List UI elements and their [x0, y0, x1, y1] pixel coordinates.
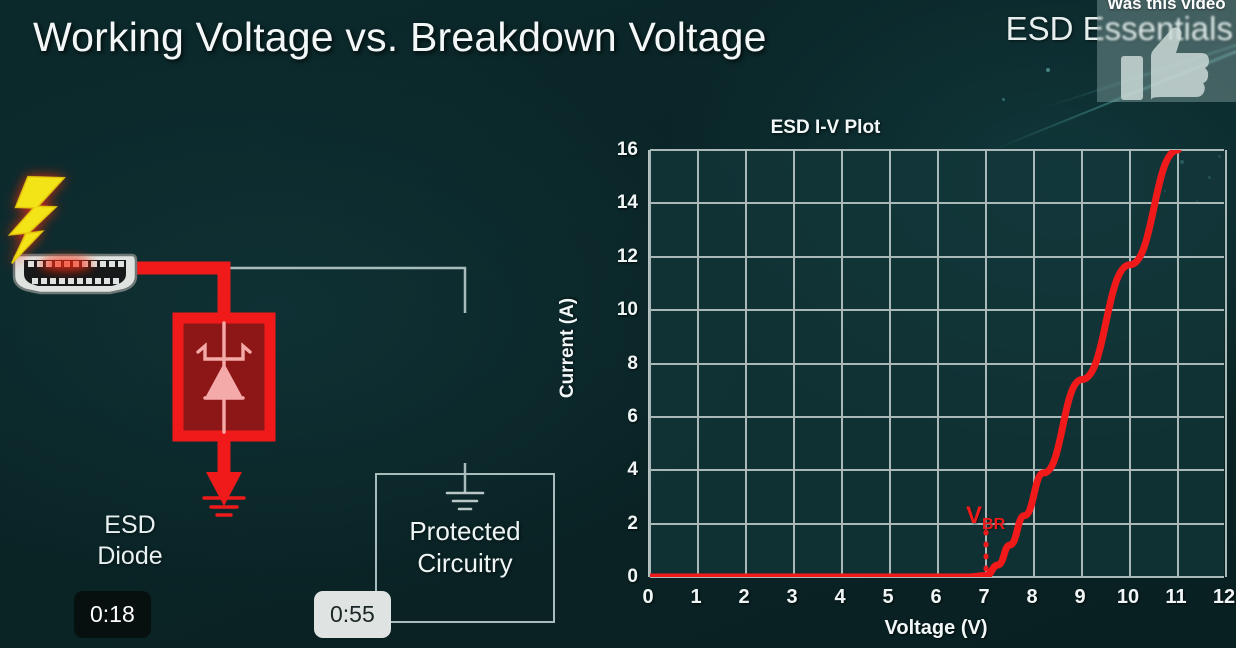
x-tick-label: 0: [630, 586, 666, 609]
esd-diode-label-line1: ESD: [84, 510, 176, 541]
protected-circuitry-box: Protected Circuitry: [375, 473, 555, 623]
y-tick-label: 12: [598, 246, 638, 268]
x-tick-label: 4: [822, 586, 858, 609]
esd-diode-component: [178, 318, 270, 436]
x-tick-label: 3: [774, 586, 810, 609]
y-tick-label: 0: [598, 566, 638, 588]
chart-title: ESD I-V Plot: [580, 117, 1236, 139]
breakdown-voltage-annotation: VBR: [966, 502, 1005, 534]
esd-diode-label: ESD Diode: [84, 510, 176, 571]
y-tick-label: 6: [598, 406, 638, 428]
total-time-label: 0:55: [330, 601, 375, 628]
current-time-badge[interactable]: 0:18: [74, 591, 151, 638]
protected-line2: Circuitry: [417, 548, 512, 578]
page-title: Working Voltage vs. Breakdown Voltage: [33, 14, 767, 61]
esd-diode-label-line2: Diode: [84, 541, 176, 572]
x-tick-label: 11: [1158, 586, 1194, 609]
chart-x-axis-label: Voltage (V): [648, 617, 1224, 640]
x-tick-label: 1: [678, 586, 714, 609]
x-tick-label: 10: [1110, 586, 1146, 609]
vbr-label-subscript: BR: [982, 515, 1005, 532]
plot-area: [648, 150, 1224, 577]
y-tick-label: 2: [598, 513, 638, 535]
x-tick-label: 12: [1206, 586, 1236, 609]
x-tick-label: 7: [966, 586, 1002, 609]
x-tick-label: 9: [1062, 586, 1098, 609]
x-tick-label: 6: [918, 586, 954, 609]
iv-curve: [650, 150, 1178, 577]
y-tick-label: 16: [598, 139, 638, 161]
x-tick-label: 8: [1014, 586, 1050, 609]
y-tick-label: 14: [598, 192, 638, 214]
thumbs-up-icon[interactable]: [1121, 26, 1213, 102]
feedback-overlay[interactable]: Was this video: [1097, 0, 1236, 102]
bokeh-speck: [1046, 68, 1050, 72]
protected-line1: Protected: [409, 516, 520, 546]
y-tick-label: 8: [598, 353, 638, 375]
current-arrow-icon: [206, 472, 242, 506]
protected-circuitry-label: Protected Circuitry: [409, 516, 520, 579]
feedback-prompt: Was this video: [1107, 0, 1225, 14]
chart-y-axis-label: Current (A): [557, 298, 579, 398]
iv-plot: ESD I-V Plot Current (A) Voltage (V) 024…: [580, 105, 1236, 648]
x-tick-label: 2: [726, 586, 762, 609]
y-tick-label: 4: [598, 459, 638, 481]
series-layer: [650, 150, 1226, 577]
y-tick-label: 10: [598, 299, 638, 321]
current-time-label: 0:18: [90, 601, 135, 628]
bokeh-speck: [1002, 98, 1005, 101]
x-tick-label: 5: [870, 586, 906, 609]
slide-canvas: Working Voltage vs. Breakdown Voltage ES…: [0, 0, 1236, 648]
total-time-badge[interactable]: 0:55: [314, 591, 391, 638]
hdmi-connector-icon: [14, 255, 136, 293]
vbr-label-main: V: [966, 502, 982, 529]
circuit-diagram: ESD Diode Protected Circuitry: [0, 160, 600, 560]
